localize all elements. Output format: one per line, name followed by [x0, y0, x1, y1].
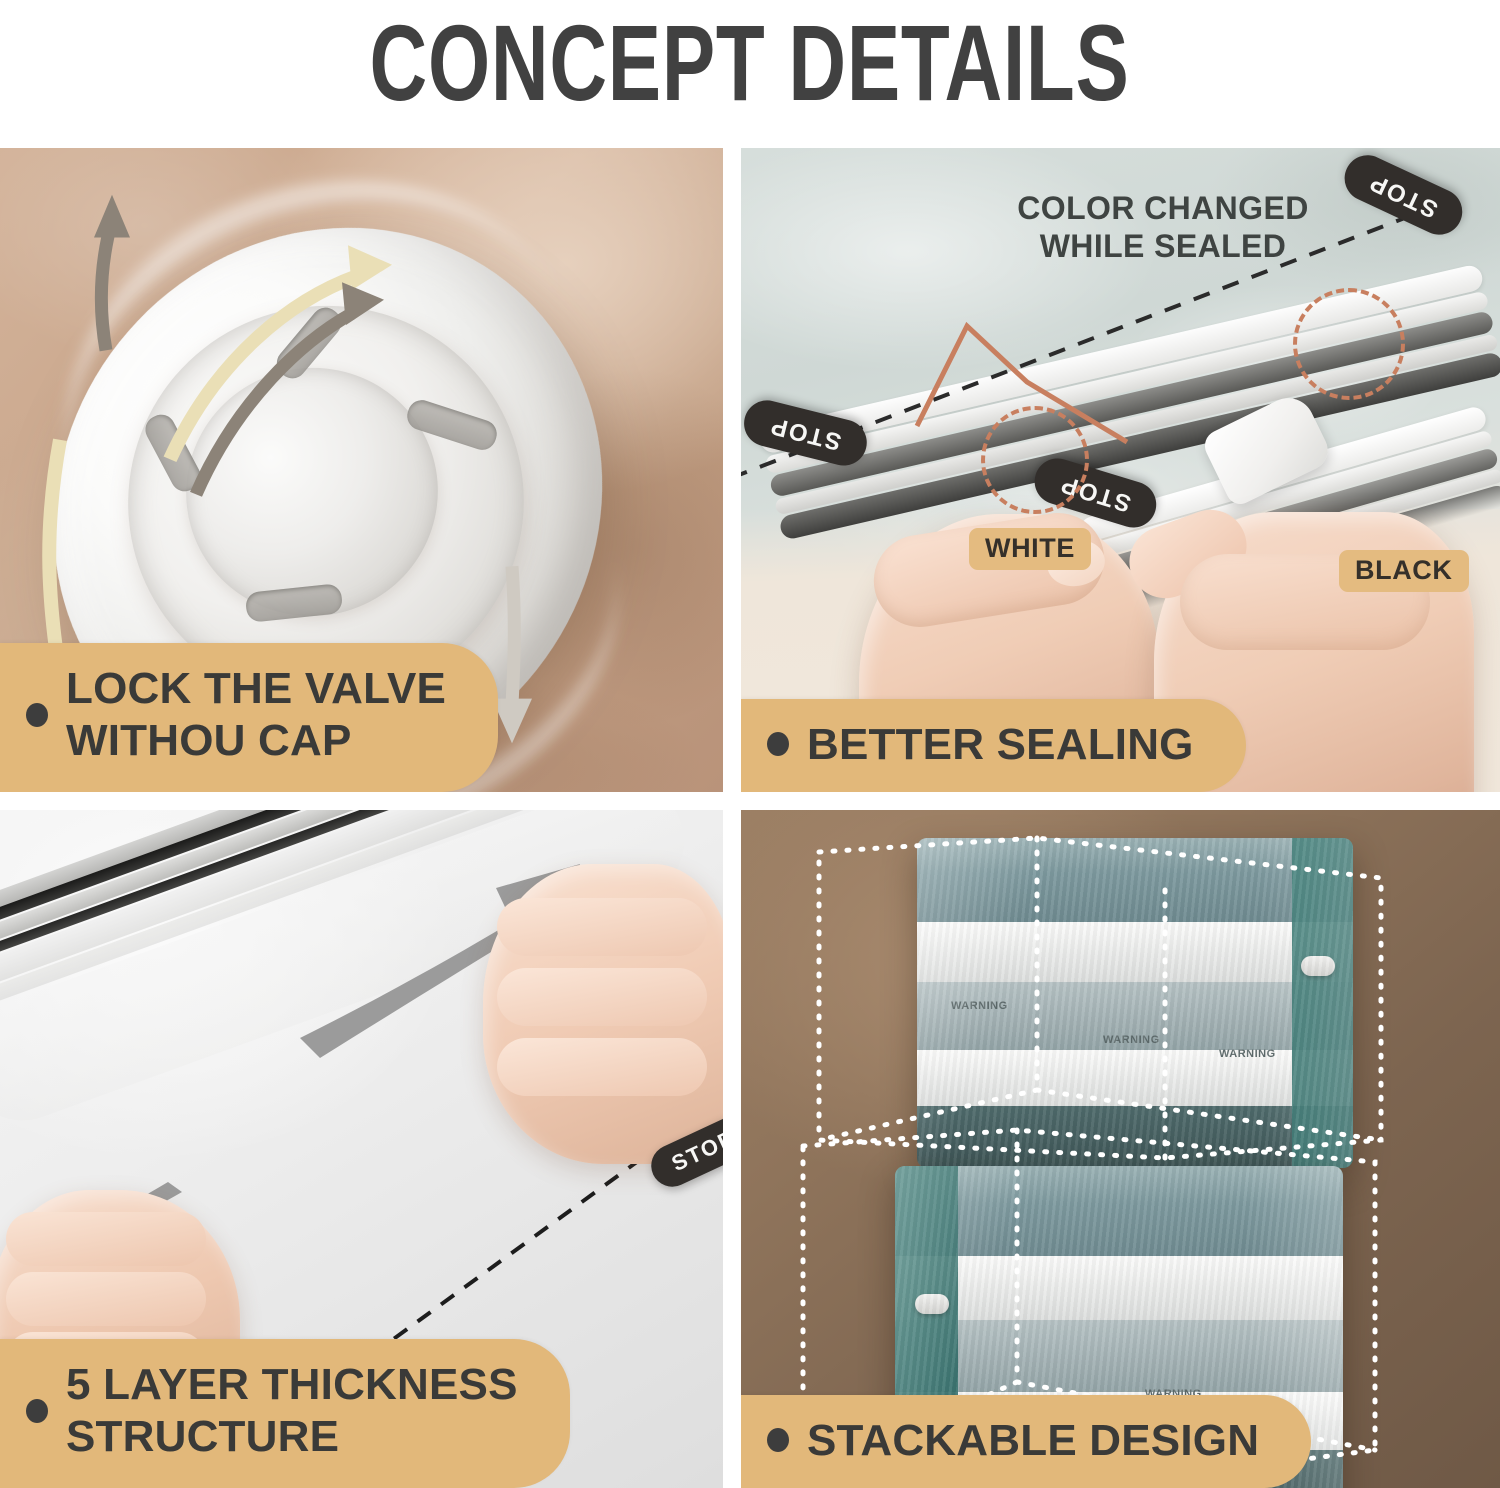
label-line-2: STRUCTURE	[66, 1412, 339, 1461]
finger-1	[6, 1212, 206, 1266]
label-line-1: LOCK THE VALVE	[66, 664, 446, 713]
page-header: CONCEPT DETAILS	[0, 0, 1500, 132]
bullet-icon	[26, 1399, 48, 1423]
grid-cell-valve: LOCK THE VALVE WITHOU CAP	[0, 148, 741, 810]
finger-3	[497, 1038, 707, 1096]
panel-label-text: 5 LAYER THICKNESS STRUCTURE	[66, 1359, 518, 1462]
feature-grid: LOCK THE VALVE WITHOU CAP	[0, 148, 1500, 1488]
panel-label-text: STACKABLE DESIGN	[807, 1415, 1259, 1466]
callout-line-2: WHILE SEALED	[1040, 228, 1287, 264]
page-title: CONCEPT DETAILS	[370, 9, 1130, 123]
panel-stackable-design: WARNING WARNING WARNING WARNING	[741, 810, 1500, 1488]
black-badge: BLACK	[1339, 550, 1469, 592]
callout-color-changed: COLOR CHANGED WHILE SEALED	[1003, 190, 1323, 266]
finger-1	[497, 898, 707, 956]
panel-label-text: BETTER SEALING	[807, 719, 1194, 770]
panel-label-text: LOCK THE VALVE WITHOU CAP	[66, 663, 446, 766]
panel-label-stackable-design: STACKABLE DESIGN	[741, 1395, 1311, 1488]
bullet-icon	[767, 1428, 789, 1452]
panel-layer-thickness: STOP STOP 5 LAYER THICKNESS STRUCTURE	[0, 810, 723, 1488]
panel-label-layer-thickness: 5 LAYER THICKNESS STRUCTURE	[0, 1339, 570, 1488]
panel-better-sealing: COLOR CHANGED WHILE SEALED STOP STOP STO…	[741, 148, 1500, 792]
callout-line-1: COLOR CHANGED	[1017, 190, 1308, 226]
dotted-3d-box-outlines	[741, 810, 1500, 1488]
panel-lock-valve: LOCK THE VALVE WITHOU CAP	[0, 148, 723, 792]
panel-label-lock-valve: LOCK THE VALVE WITHOU CAP	[0, 643, 498, 792]
grid-cell-thickness: STOP STOP 5 LAYER THICKNESS STRUCTURE	[0, 810, 741, 1488]
panel-label-better-sealing: BETTER SEALING	[741, 699, 1246, 792]
finger-2	[497, 968, 707, 1026]
upper-right-hand	[483, 864, 723, 1164]
grid-cell-stackable: WARNING WARNING WARNING WARNING	[741, 810, 1500, 1488]
white-badge: WHITE	[969, 528, 1091, 570]
highlight-circle-black	[1293, 288, 1405, 400]
highlight-circle-white	[981, 406, 1089, 514]
label-line-2: WITHOU CAP	[66, 716, 352, 765]
bullet-icon	[767, 732, 789, 756]
bullet-icon	[26, 703, 48, 727]
grid-cell-sealing: COLOR CHANGED WHILE SEALED STOP STOP STO…	[741, 148, 1500, 810]
label-line-1: 5 LAYER THICKNESS	[66, 1360, 518, 1409]
finger-2	[6, 1272, 206, 1326]
